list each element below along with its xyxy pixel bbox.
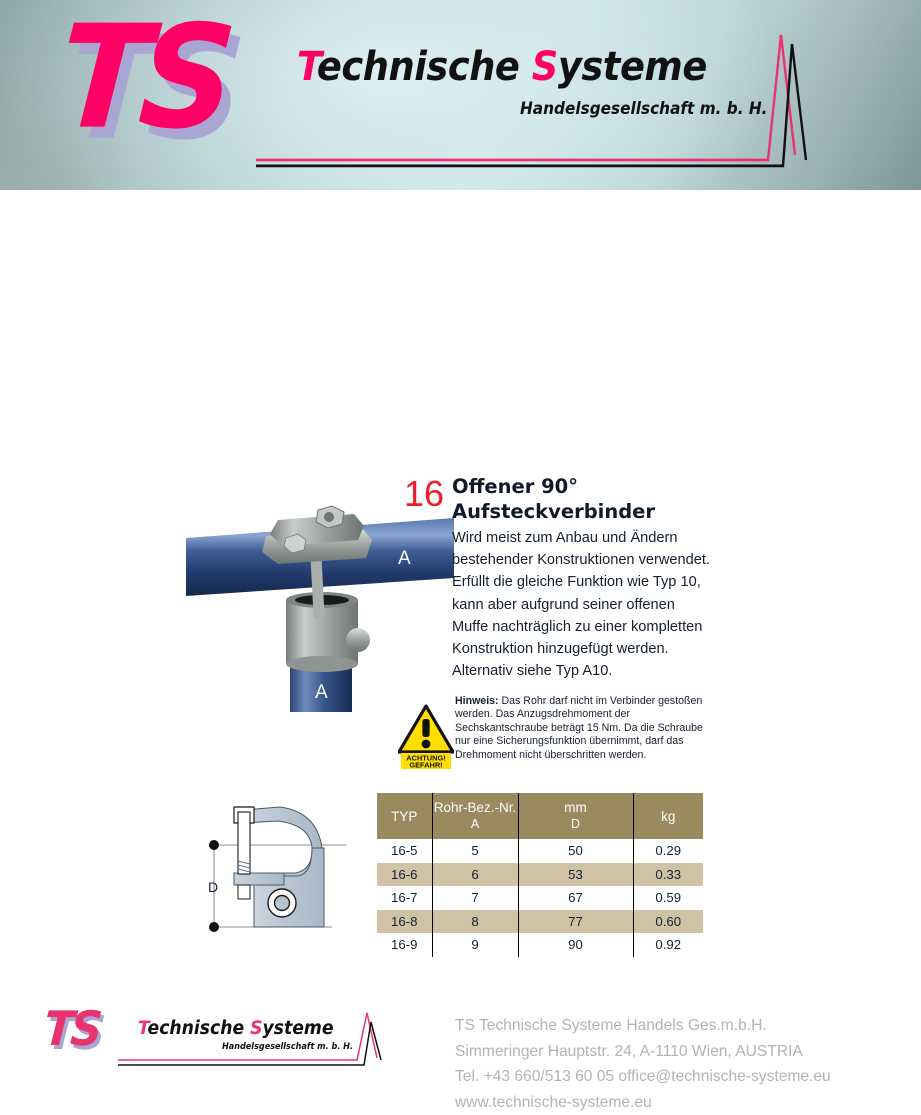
company-name-footer: Technische Systeme (138, 1018, 334, 1039)
cell-a: 6 (432, 863, 518, 887)
technical-drawing: D (172, 790, 372, 970)
column-header-kg: kg (633, 793, 703, 839)
company-name-part-1: echnische (317, 44, 532, 90)
column-header-mm-line1: mm (564, 800, 587, 815)
logo-mark: TS (55, 7, 230, 150)
footer-logo-mark: TS (42, 1006, 100, 1054)
column-header-mm-line2: D (519, 816, 633, 833)
company-subtitle-header: Handelsgesellschaft m. b. H. (520, 99, 767, 119)
table-row: 16-5 5 50 0.29 (377, 839, 703, 863)
column-header-typ-line1: TYP (391, 809, 417, 824)
cell-typ: 16-8 (377, 910, 432, 934)
cell-kg: 0.60 (633, 910, 703, 934)
warning-note: ACHTUNG! GEFAHR! Hinweis: Das Rohr darf … (398, 695, 710, 781)
product-number: 16 (404, 476, 444, 512)
company-subtitle-footer: Handelsgesellschaft m. b. H. (222, 1042, 353, 1053)
page-header: TS TS Technische Systeme Handelsgesellsc… (0, 0, 921, 190)
company-name-header: Technische Systeme (297, 45, 707, 89)
cell-typ: 16-5 (377, 839, 432, 863)
warning-triangle-icon: ACHTUNG! GEFAHR! (398, 704, 454, 770)
column-header-rohr-line1: Rohr-Bez.-Nr. (434, 800, 517, 815)
cell-kg: 0.59 (633, 886, 703, 910)
table-header-row: TYP Rohr-Bez.-Nr. A mm D kg (377, 793, 703, 839)
table-row: 16-9 9 90 0.92 (377, 933, 703, 957)
product-title-line-1: Offener 90° (452, 475, 578, 498)
footer-name-accent-s: S (250, 1018, 262, 1039)
product-photo: A A (186, 496, 454, 712)
column-header-typ: TYP (377, 793, 432, 839)
cell-d: 67 (518, 886, 633, 910)
table-row: 16-6 6 53 0.33 (377, 863, 703, 887)
svg-text:GEFAHR!: GEFAHR! (409, 761, 442, 770)
cell-typ: 16-9 (377, 933, 432, 957)
cell-a: 5 (432, 839, 518, 863)
product-title-line-2: Aufsteckverbinder (452, 500, 655, 523)
company-name-part-2: ysteme (558, 44, 707, 90)
cell-a: 8 (432, 910, 518, 934)
cell-a: 9 (432, 933, 518, 957)
dimensions-table: TYP Rohr-Bez.-Nr. A mm D kg 16-5 5 50 (377, 793, 703, 957)
table-body: 16-5 5 50 0.29 16-6 6 53 0.33 16-7 7 67 … (377, 839, 703, 957)
page-footer: TS TS Technische Systeme Handelsgesellsc… (0, 1000, 921, 1108)
cell-typ: 16-7 (377, 886, 432, 910)
datasheet-body: A A 16 Offener 90° Aufsteckverbinder Wir… (0, 190, 921, 1108)
warning-note-text: Hinweis: Das Rohr darf nicht im Verbinde… (455, 695, 707, 762)
column-header-rohr: Rohr-Bez.-Nr. A (432, 793, 518, 839)
svg-text:A: A (315, 682, 328, 703)
cell-kg: 0.29 (633, 839, 703, 863)
contact-website[interactable]: www.technische-systeme.eu (455, 1090, 915, 1115)
product-description: Wird meist zum Anbau und Ändern bestehen… (452, 527, 714, 682)
cell-d: 90 (518, 933, 633, 957)
table-row: 16-8 8 77 0.60 (377, 910, 703, 934)
table-row: 16-7 7 67 0.59 (377, 886, 703, 910)
contact-phone-email[interactable]: Tel. +43 660/513 60 05 office@technische… (455, 1064, 915, 1090)
warning-note-label: Hinweis: (455, 695, 499, 707)
column-header-rohr-line2: A (433, 816, 518, 833)
cell-a: 7 (432, 886, 518, 910)
company-name-accent-t: T (297, 44, 317, 90)
product-title: Offener 90° Aufsteckverbinder (452, 474, 717, 524)
cell-d: 77 (518, 910, 633, 934)
cell-d: 50 (518, 839, 633, 863)
footer-name-accent-t: T (138, 1018, 148, 1039)
svg-text:A: A (398, 548, 411, 569)
company-name-accent-s: S (532, 44, 558, 90)
cell-d: 53 (518, 863, 633, 887)
company-logo-header: TS TS (60, 12, 290, 177)
contact-address: Simmeringer Hauptstr. 24, A-1110 Wien, A… (455, 1039, 915, 1065)
cell-typ: 16-6 (377, 863, 432, 887)
footer-name-part-1: echnische (148, 1018, 251, 1039)
contact-company: TS Technische Systeme Handels Ges.m.b.H. (455, 1013, 915, 1039)
column-header-kg-line1: kg (661, 809, 675, 824)
cell-kg: 0.92 (633, 933, 703, 957)
column-header-mm: mm D (518, 793, 633, 839)
svg-text:D: D (208, 879, 218, 895)
contact-block: TS Technische Systeme Handels Ges.m.b.H.… (455, 1013, 915, 1115)
footer-name-part-2: ysteme (263, 1018, 334, 1039)
cell-kg: 0.33 (633, 863, 703, 887)
table-header: TYP Rohr-Bez.-Nr. A mm D kg (377, 793, 703, 839)
company-logo-footer: TS TS (44, 1008, 116, 1060)
